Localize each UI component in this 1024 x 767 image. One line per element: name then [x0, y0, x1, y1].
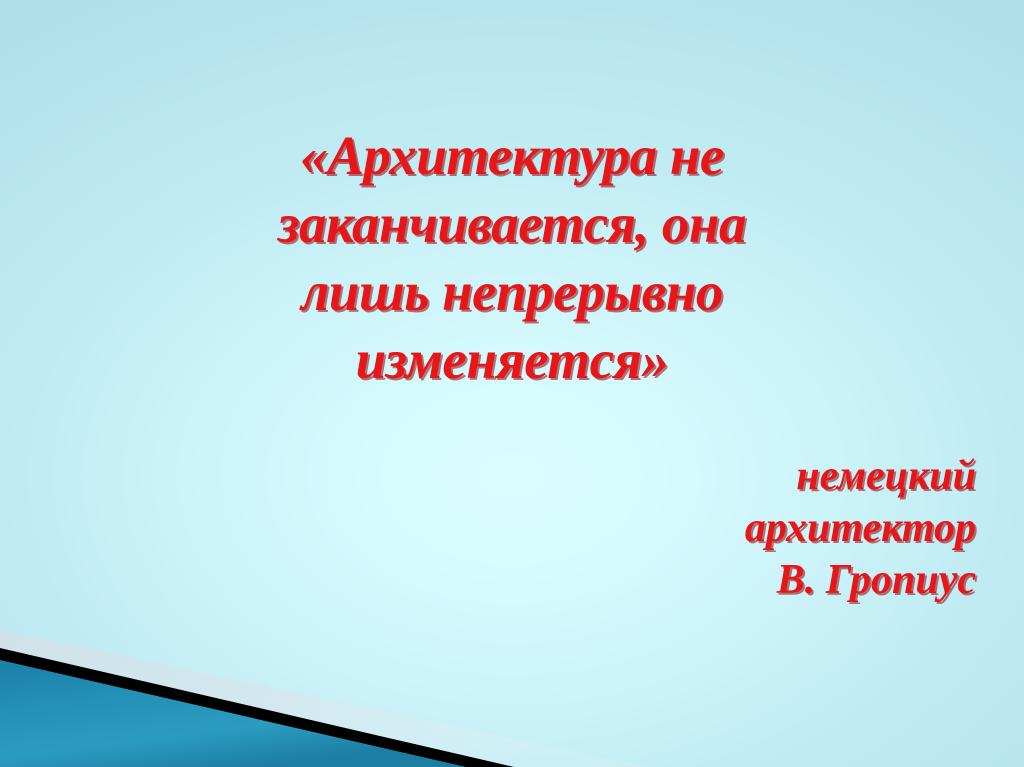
presentation-slide: «Архитектура не заканчивается, она лишь …	[0, 0, 1024, 767]
quote-text-block: «Архитектура не заканчивается, она лишь …	[0, 122, 1024, 394]
attribution-line-2: архитектор	[416, 502, 976, 554]
quote-line-2: заканчивается, она	[0, 190, 1024, 258]
band-blue-stripe	[0, 660, 466, 767]
quote-line-1: «Архитектура не	[0, 122, 1024, 190]
attribution-line-1: немецкий	[416, 450, 976, 502]
quote-line-4: изменяется»	[0, 326, 1024, 394]
attribution-block: немецкий архитектор В. Гропиус	[416, 450, 976, 606]
band-black-stripe	[0, 648, 514, 767]
attribution-line-3: В. Гропиус	[416, 554, 976, 606]
quote-line-3: лишь непрерывно	[0, 258, 1024, 326]
band-light-stripe	[0, 630, 648, 767]
